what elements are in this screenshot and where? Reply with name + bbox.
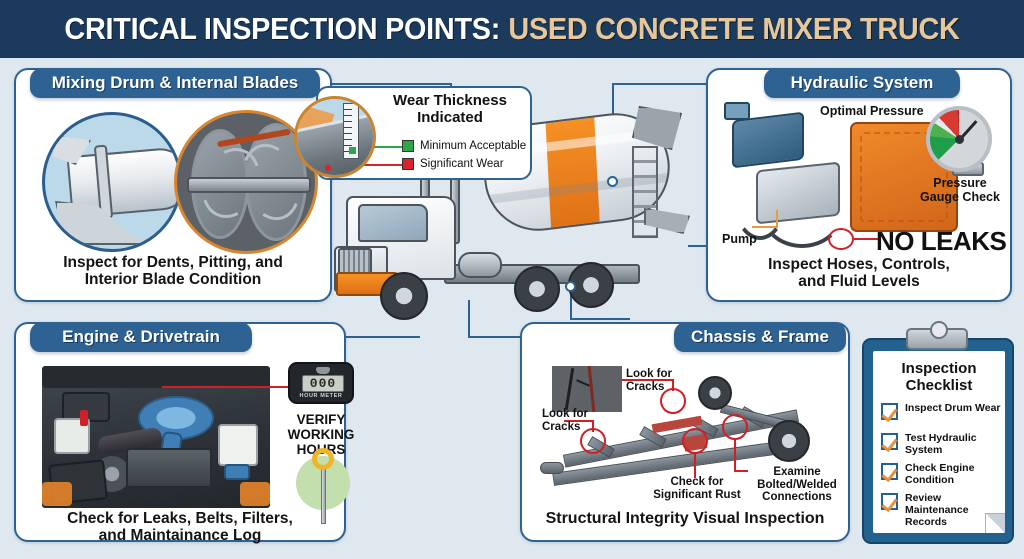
checklist-item-1[interactable]: Inspect Drum Wear — [881, 403, 1001, 420]
panel-chassis-frame: Chassis & Frame Look for Cr — [520, 322, 850, 542]
checklist-item-3-label: Check Engine Condition — [905, 463, 1001, 487]
checklist-title-line-1: Inspection — [873, 361, 1005, 378]
wheel-front — [380, 272, 428, 320]
wear-title-line-2: Indicated — [370, 110, 530, 127]
hour-meter-label: HOUR METER — [290, 393, 352, 399]
engine-caption-line-2: and Maintainance Log — [16, 527, 344, 544]
checklist-item-3[interactable]: Check Engine Condition — [881, 463, 1001, 487]
drum-exterior-illustration — [42, 112, 182, 252]
drum-orange-band — [545, 109, 600, 237]
checkbox-checked-icon[interactable] — [881, 403, 898, 420]
panel-chassis-caption: Structural Integrity Visual Inspection — [522, 510, 848, 528]
motor-terminal-box — [724, 102, 750, 120]
inspection-checklist-clipboard: Inspection Checklist Inspect Drum Wear T… — [862, 338, 1014, 544]
panel-mixing-drum: Mixing Drum & Internal Blades Inspect fo… — [14, 68, 332, 302]
verify-line-2: WORKING — [278, 427, 364, 442]
annot-cracks-left-line-1: Look for — [542, 408, 588, 421]
leak-leader-line — [854, 238, 878, 240]
crack-line-1 — [565, 368, 575, 410]
wheel-rear-1 — [514, 266, 560, 312]
pressure-gauge-icon — [926, 106, 992, 172]
annot-rust-line-2: Significant Rust — [644, 489, 750, 502]
cab-windshield — [358, 204, 428, 242]
panel-engine-header: Engine & Drivetrain — [30, 322, 252, 352]
hotspot-chassis[interactable] — [565, 281, 576, 292]
pump-label: Pump — [722, 232, 757, 246]
legend-swatch-red — [402, 158, 414, 170]
headlight-left — [42, 482, 72, 506]
annot-examine-connections: Examine Bolted/Welded Connections — [750, 466, 844, 504]
drum-caption-line-2: Interior Blade Condition — [16, 271, 330, 288]
leader-rust — [694, 452, 696, 478]
chassis-wheel-front — [698, 376, 732, 410]
hood-underside — [42, 366, 270, 388]
checklist-item-2[interactable]: Test Hydraulic System — [881, 433, 1001, 457]
crack-line-3 — [576, 379, 590, 387]
wear-thickness-title: Wear Thickness Indicated — [370, 93, 530, 126]
hydraulic-caption-line-2: and Fluid Levels — [708, 273, 1010, 290]
gauge-label-line-2: Gauge Check — [914, 190, 1006, 204]
legend-label-minimum-acceptable: Minimum Acceptable — [420, 140, 526, 152]
page-title-accent: USED CONCRETE MIXER TRUCK — [508, 11, 959, 47]
leader-crack-left-v — [592, 420, 594, 432]
checklist-item-1-label: Inspect Drum Wear — [905, 403, 1001, 415]
engine-caption-line-1: Check for Leaks, Belts, Filters, — [16, 510, 344, 527]
annot-cracks-left-line-2: Cracks — [542, 421, 588, 434]
panel-hydraulic-header: Hydraulic System — [764, 68, 960, 98]
panel-hydraulic-system: Hydraulic System Optimal Pressure Pressu… — [706, 68, 1012, 302]
annot-bolts-line-2: Bolted/Welded — [750, 479, 844, 492]
panel-engine-caption: Check for Leaks, Belts, Filters, and Mai… — [16, 510, 344, 545]
crack-closeup-inset — [552, 366, 622, 412]
legend-item-minimum-acceptable: Minimum Acceptable — [402, 140, 526, 152]
engine-block — [126, 448, 212, 488]
annot-look-for-cracks-top: Look for Cracks — [626, 368, 672, 393]
checkbox-checked-icon[interactable] — [881, 493, 898, 510]
fuel-tank — [458, 252, 502, 278]
page-title: CRITICAL INSPECTION POINTS: USED CONCRET… — [36, 0, 988, 58]
panel-mixing-drum-caption: Inspect for Dents, Pitting, and Interior… — [16, 254, 330, 289]
wear-title-line-1: Wear Thickness — [370, 93, 530, 110]
checklist-item-2-label: Test Hydraulic System — [905, 433, 1001, 457]
fluid-cap-blue — [224, 464, 250, 480]
hour-meter-display: 000 — [302, 375, 344, 392]
legend-item-significant-wear: Significant Wear — [402, 158, 504, 170]
crack-line-2 — [588, 366, 596, 412]
leader-connections-h — [734, 470, 748, 472]
checklist-title: Inspection Checklist — [873, 361, 1005, 394]
hotspot-connections[interactable] — [722, 414, 748, 440]
annot-rust-line-1: Check for — [644, 476, 750, 489]
panel-hydraulic-title: Hydraulic System — [791, 73, 934, 93]
panel-engine-title: Engine & Drivetrain — [62, 327, 220, 347]
connector-chassis-horizontal — [468, 336, 520, 338]
panel-chassis-title: Chassis & Frame — [691, 327, 829, 347]
hydraulic-caption-line-1: Inspect Hoses, Controls, — [708, 256, 1010, 273]
no-leaks-label: NO LEAKS — [876, 226, 1006, 257]
panel-mixing-drum-header: Mixing Drum & Internal Blades — [30, 68, 320, 98]
battery-terminal — [80, 410, 88, 426]
panel-hydraulic-caption: Inspect Hoses, Controls, and Fluid Level… — [708, 256, 1010, 291]
infographic-canvas: CRITICAL INSPECTION POINTS: USED CONCRET… — [0, 0, 1024, 559]
optimal-pressure-label: Optimal Pressure — [820, 104, 924, 118]
frame-tow-hitch — [540, 462, 564, 474]
headlight-right — [240, 482, 270, 506]
checklist-title-line-2: Checklist — [873, 378, 1005, 395]
annot-look-for-cracks-left: Look for Cracks — [542, 408, 588, 433]
panel-mixing-drum-title: Mixing Drum & Internal Blades — [52, 73, 299, 93]
chassis-wheel-rear — [768, 420, 810, 462]
checkbox-checked-icon[interactable] — [881, 463, 898, 480]
clipboard-paper: Inspection Checklist Inspect Drum Wear T… — [873, 351, 1005, 533]
hour-meter-icon: 000 HOUR METER — [288, 362, 354, 404]
pressure-gauge-label: Pressure Gauge Check — [914, 176, 1006, 205]
checkbox-checked-icon[interactable] — [881, 433, 898, 450]
drum-caption-line-1: Inspect for Dents, Pitting, and — [16, 254, 330, 271]
leader-connections-v — [734, 438, 736, 472]
leader-crack-top-v — [672, 379, 674, 391]
page-title-primary: CRITICAL INSPECTION POINTS: — [64, 11, 500, 47]
annot-bolts-line-1: Examine — [750, 466, 844, 479]
verify-line-1: VERIFY — [278, 412, 364, 427]
header-bar: CRITICAL INSPECTION POINTS: USED CONCRET… — [0, 0, 1024, 58]
legend-label-significant-wear: Significant Wear — [420, 158, 504, 170]
clipboard-clip-icon — [906, 328, 968, 350]
washer-reservoir — [218, 424, 258, 466]
gauge-needle — [958, 120, 978, 141]
hotspot-hydraulic[interactable] — [607, 176, 618, 187]
connector-drum-horizontal — [332, 83, 452, 85]
annot-bolts-line-3: Connections — [750, 491, 844, 504]
gauge-label-line-1: Pressure — [914, 176, 1006, 190]
annot-cracks-top-line-2: Cracks — [626, 381, 672, 394]
paper-fold-corner — [985, 513, 1005, 533]
checklist-item-4[interactable]: Review Maintenance Records — [881, 493, 1001, 528]
connector-engine-horizontal — [346, 336, 420, 338]
annot-check-rust: Check for Significant Rust — [644, 476, 750, 501]
panel-engine-drivetrain: Engine & Drivetrain 000 HOUR METER VERIF… — [14, 322, 346, 542]
legend-swatch-green — [402, 140, 414, 152]
panel-chassis-header: Chassis & Frame — [674, 322, 846, 352]
hotspot-rust[interactable] — [682, 428, 708, 454]
annot-cracks-top-line-1: Look for — [626, 368, 672, 381]
leak-hotspot-circle — [828, 228, 854, 250]
dipstick-handle-icon — [312, 448, 334, 470]
wear-magnifier-icon — [294, 96, 376, 178]
connector-hydraulic-horizontal — [612, 83, 706, 85]
